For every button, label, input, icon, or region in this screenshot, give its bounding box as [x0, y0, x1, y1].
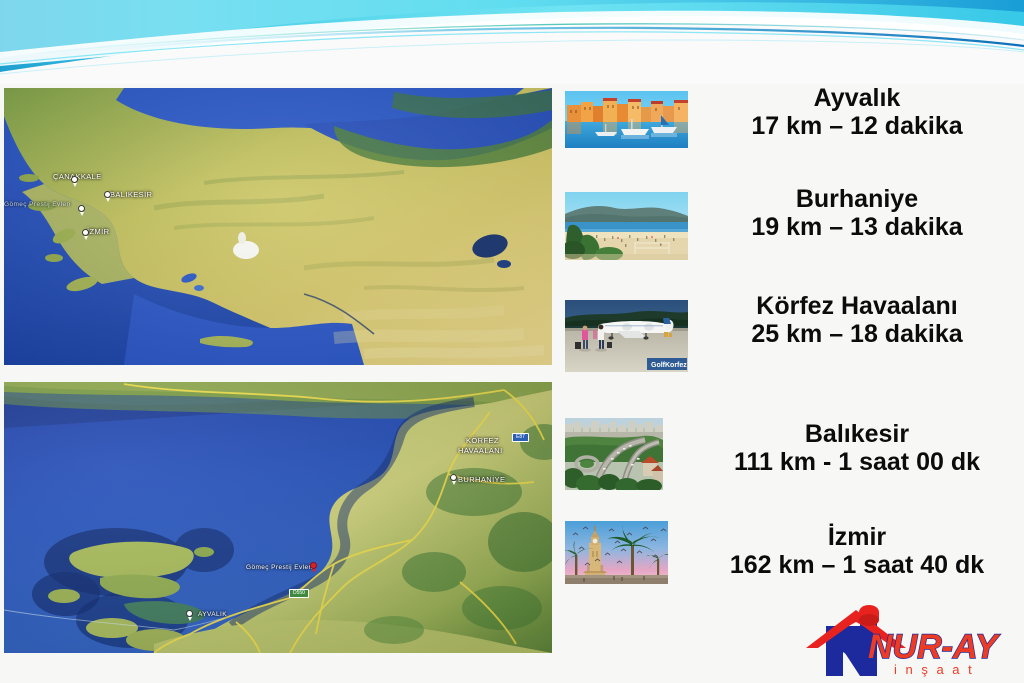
- destination-name: Burhaniye: [690, 185, 1024, 213]
- destination-entry-korfez-havaalani: Körfez Havaalanı 25 km – 18 dakika: [690, 292, 1024, 350]
- destination-name: Balıkesir: [690, 420, 1024, 448]
- map-pin-ayvalik: [186, 610, 193, 620]
- burhaniye-beach-photo: [565, 192, 688, 260]
- destination-entry-izmir: İzmir 162 km – 1 saat 40 dk: [690, 523, 1024, 581]
- destination-entry-burhaniye: Burhaniye 19 km – 13 dakika: [690, 185, 1024, 243]
- map-pin-gomec-prestij-evleri: [78, 205, 85, 215]
- map-pin-gomec-prestij-evleri: [310, 562, 317, 572]
- logo-brand-text: NUR-AY: [868, 628, 1001, 666]
- korfez-airport-photo: GolfKorfez: [565, 300, 688, 372]
- destination-distance: 17 km – 12 dakika: [690, 112, 1024, 142]
- destination-list: Ayvalık 17 km – 12 dakika Burhaniye 19 k…: [690, 84, 1024, 604]
- destination-distance: 19 km – 13 dakika: [690, 213, 1024, 243]
- map-label-balikesir: BALIKESİR: [110, 190, 152, 199]
- map-label-havaalani: HAVAALANI: [458, 446, 503, 455]
- destination-name: Ayvalık: [690, 84, 1024, 112]
- svg-text:GolfKorfez: GolfKorfez: [651, 362, 687, 369]
- izmir-clocktower-photo: [565, 521, 668, 584]
- destination-distance: 162 km – 1 saat 40 dk: [690, 551, 1024, 581]
- wave-banner: [0, 0, 1024, 84]
- map-label-burhaniye: BURHANİYE: [458, 475, 505, 484]
- destination-name: Körfez Havaalanı: [690, 292, 1024, 320]
- turkey-satellite-map: ÇANAKKALE BALIKESİR İZMİR Gömeç Prestij …: [4, 88, 552, 365]
- map-pin-burhaniye: [450, 474, 457, 484]
- balikesir-city-photo: [565, 418, 663, 490]
- map-pin-balikesir: [104, 191, 111, 201]
- destination-name: İzmir: [690, 523, 1024, 551]
- road-shield-e87: E87: [512, 433, 529, 442]
- nuray-insaat-logo: NUR-AY i n ş a a t: [798, 604, 1024, 678]
- map-label-ayvalik: AYVALIK: [198, 611, 227, 618]
- gomec-gulf-satellite-map: KÖRFEZ HAVAALANI BURHANİYE Gömeç Prestij…: [4, 382, 552, 653]
- map-label-gomec-prestij-evleri: Gömeç Prestij Evleri: [246, 564, 313, 571]
- road-shield-d550: D550: [289, 589, 309, 598]
- map-pin-izmir: [82, 229, 89, 239]
- map-label-gomec-prestij-evleri: Gömeç Prestij Evleri: [4, 201, 71, 208]
- destination-distance: 25 km – 18 dakika: [690, 320, 1024, 350]
- logo-tagline-text: i n ş a a t: [894, 662, 974, 677]
- destination-distance: 111 km - 1 saat 00 dk: [690, 448, 1024, 478]
- map-pin-canakkale: [71, 176, 78, 186]
- map-label-izmir: İZMİR: [87, 227, 109, 236]
- destination-entry-balikesir: Balıkesir 111 km - 1 saat 00 dk: [690, 420, 1024, 478]
- map-label-korfez: KÖRFEZ: [466, 436, 499, 445]
- ayvalik-harbor-photo: [565, 91, 688, 148]
- destination-entry-ayvalik: Ayvalık 17 km – 12 dakika: [690, 84, 1024, 142]
